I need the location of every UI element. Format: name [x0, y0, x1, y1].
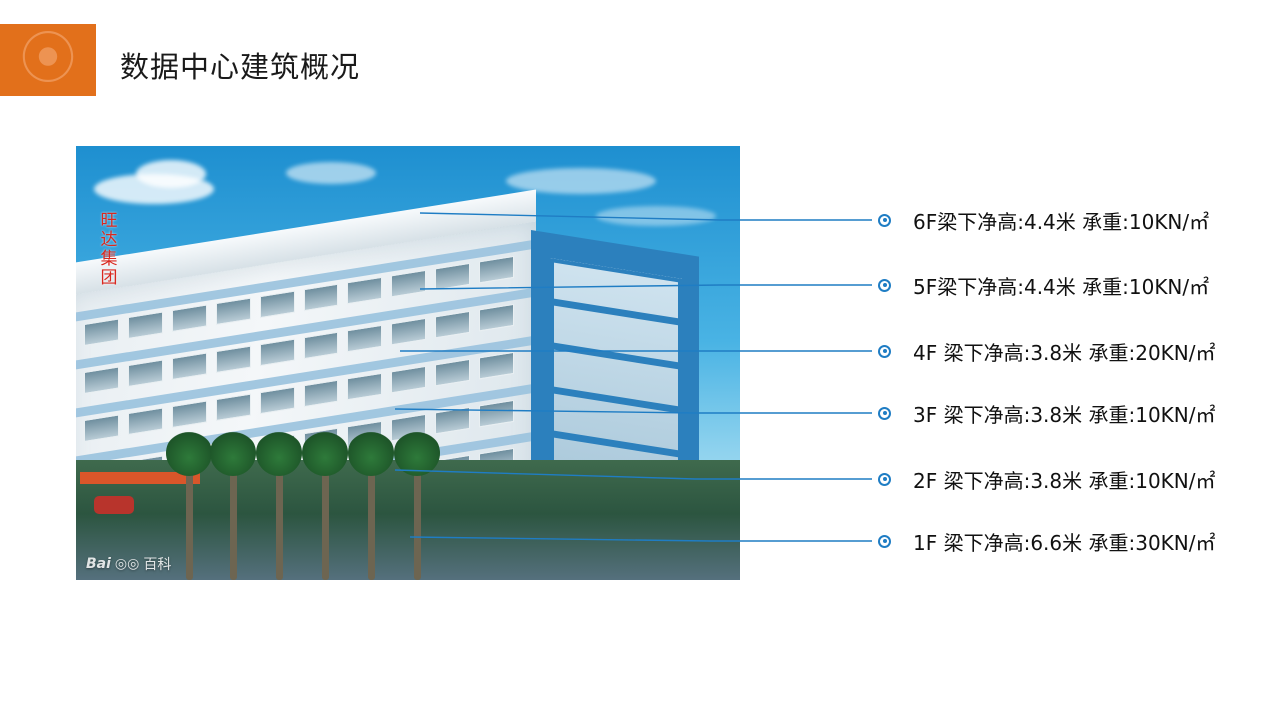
watermark-suffix: 百科 [143, 554, 171, 574]
building-sign-text: 旺达集团 [98, 208, 120, 292]
callout-label: 4F 梁下净高:3.8米 承重:20KN/㎡ [913, 337, 1216, 366]
cloud [136, 160, 206, 188]
callout-bullet-icon [878, 473, 891, 486]
callout-label: 1F 梁下净高:6.6米 承重:30KN/㎡ [913, 527, 1216, 556]
palm-tree [308, 430, 342, 580]
page-title: 数据中心建筑概况 [120, 44, 360, 86]
palm-tree [216, 430, 250, 580]
callout-bullet-icon [878, 535, 891, 548]
cloud [286, 162, 376, 184]
watermark-logo-icon: ◎◎ [115, 556, 139, 572]
callout-label: 3F 梁下净高:3.8米 承重:10KN/㎡ [913, 399, 1216, 428]
red-car [94, 496, 134, 514]
callout-label: 5F梁下净高:4.4米 承重:10KN/㎡ [913, 271, 1209, 300]
callout-floor-6: 6F梁下净高:4.4米 承重:10KN/㎡ [878, 207, 1209, 233]
building-photo: 旺达集团 Bai ◎◎ 百科 [76, 146, 740, 580]
callout-bullet-icon [878, 345, 891, 358]
cloud [596, 206, 716, 226]
palm-tree [400, 430, 434, 580]
callout-floor-2: 2F 梁下净高:3.8米 承重:10KN/㎡ [878, 466, 1216, 492]
callout-floor-4: 4F 梁下净高:3.8米 承重:20KN/㎡ [878, 338, 1216, 364]
palm-tree [262, 430, 296, 580]
callout-bullet-icon [878, 214, 891, 227]
swirl-icon: ⦿ [10, 28, 86, 92]
callout-label: 6F梁下净高:4.4米 承重:10KN/㎡ [913, 206, 1209, 235]
header-accent-block: ⦿ [0, 24, 96, 96]
callout-label: 2F 梁下净高:3.8米 承重:10KN/㎡ [913, 465, 1216, 494]
watermark-brand: Bai [86, 556, 111, 572]
palm-tree [172, 430, 206, 580]
palm-tree [354, 430, 388, 580]
callout-floor-1: 1F 梁下净高:6.6米 承重:30KN/㎡ [878, 528, 1216, 554]
callout-floor-5: 5F梁下净高:4.4米 承重:10KN/㎡ [878, 272, 1209, 298]
callout-bullet-icon [878, 407, 891, 420]
callout-floor-3: 3F 梁下净高:3.8米 承重:10KN/㎡ [878, 400, 1216, 426]
callout-bullet-icon [878, 279, 891, 292]
baidu-baike-watermark: Bai ◎◎ 百科 [86, 554, 171, 574]
